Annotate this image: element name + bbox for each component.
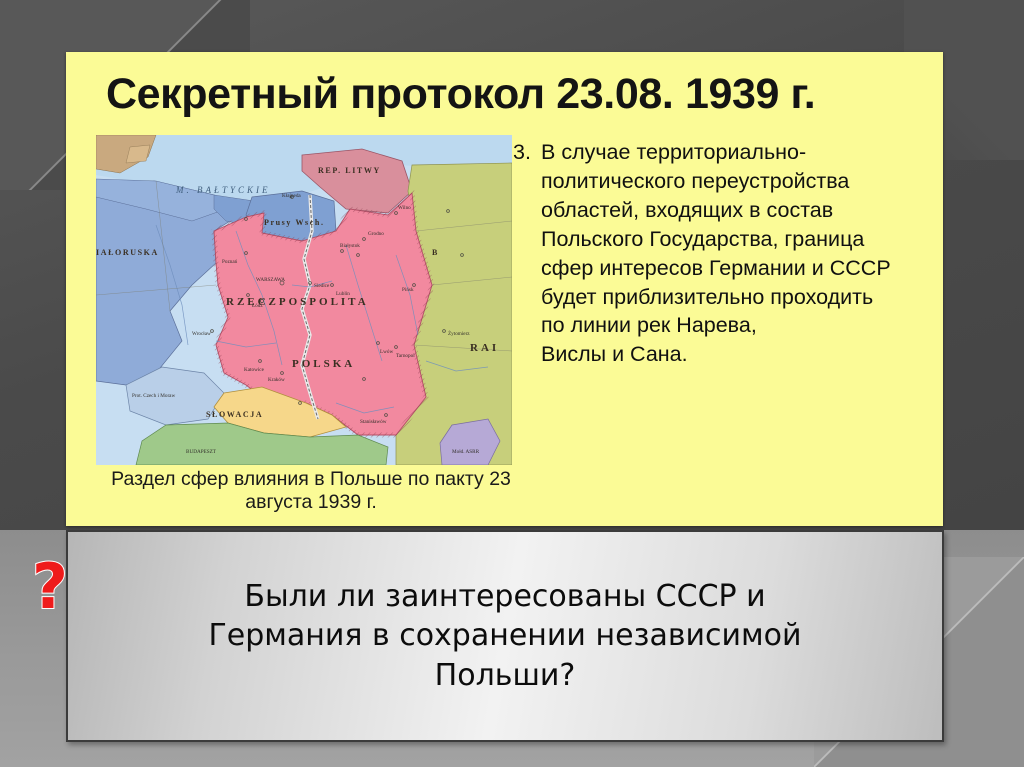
question-line: Германия в сохранении независимой	[145, 616, 865, 656]
map-label-warszawa: WARSZAWA	[256, 277, 285, 283]
map-label-protectorate: Prot. Czech i Moraw	[132, 393, 175, 399]
protocol-line: Вислы и Сана.	[541, 340, 933, 369]
map-label-slovakia: SŁOWACJA	[206, 410, 263, 419]
protocol-line: будет приблизительно проходить	[541, 283, 933, 312]
map-label-wilno: Wilno	[398, 205, 411, 211]
map-label-pinsk: Pińsk	[402, 287, 414, 293]
map-label-moldavia: Mołd. ASRR	[452, 449, 480, 455]
map-svg: M. BAŁTYCKIE Prusy Wsch. REP. LITWY RZEC…	[96, 135, 512, 465]
map-label-ukraine: RAI	[470, 342, 499, 354]
protocol-line: по линии рек Нарева,	[541, 311, 933, 340]
map-label-klaipeda: Kłajpeda	[282, 193, 301, 199]
protocol-line: областей, входящих в состав	[541, 196, 933, 225]
protocol-clause: 3. В случае территориально- политическог…	[513, 138, 933, 369]
map-label-wroclaw: Wrocław	[192, 331, 211, 337]
map-label-siedlce: Siedlce	[314, 283, 330, 289]
map-label-lublin: Lublin	[336, 291, 350, 297]
map-label-katowice: Katowice	[244, 367, 265, 373]
protocol-line: сфер интересов Германии и СССР	[541, 254, 933, 283]
protocol-body: В случае территориально- политического п…	[541, 138, 933, 369]
question-line: Польши?	[145, 656, 865, 696]
question-banner: Были ли заинтересованы СССР и Германия в…	[66, 530, 944, 742]
protocol-line: В случае территориально-	[541, 138, 933, 167]
protocol-line: Польского Государства, граница	[541, 225, 933, 254]
slide: Секретный протокол 23.08. 1939 г.	[0, 0, 1024, 767]
map-label-lithuania: REP. LITWY	[318, 166, 381, 175]
question-text: Были ли заинтересованы СССР и Германия в…	[145, 577, 865, 696]
map-label-rzeczpospolita: RZECZPOSPOLITA	[226, 296, 369, 308]
map-label-bialystok: Białystok	[340, 243, 360, 249]
map-label-polska: POLSKA	[292, 358, 355, 370]
map-label-stanislawow: Stanisławów	[360, 419, 387, 425]
map-label-krakow: Kraków	[268, 377, 285, 383]
map-label-lwow: Lwów	[380, 349, 394, 355]
question-line: Были ли заинтересованы СССР и	[145, 577, 865, 617]
map-label-zytomierz: Żytomierz	[448, 330, 470, 337]
map-label-budapest: BUDAPESZT	[186, 449, 217, 455]
map-label-lodz: Łódź	[252, 303, 263, 309]
map-label-tarnopol: Tarnopol	[396, 353, 415, 359]
page-title: Секретный протокол 23.08. 1939 г.	[106, 70, 815, 119]
map-caption: Раздел сфер влияния в Польше по пакту 23…	[96, 468, 526, 514]
map-label-east-prussia: Prusy Wsch.	[264, 218, 325, 227]
protocol-line: политического переустройства	[541, 167, 933, 196]
map-label-grodno: Grodno	[368, 231, 384, 237]
content-card: Секретный протокол 23.08. 1939 г.	[66, 52, 943, 526]
map-image: M. BAŁTYCKIE Prusy Wsch. REP. LITWY RZEC…	[96, 135, 512, 465]
map-label-baltic: M. BAŁTYCKIE	[175, 185, 271, 195]
protocol-number: 3.	[513, 138, 539, 167]
question-mark-icon: ?	[32, 556, 68, 618]
map-caption-line1: Раздел сфер влияния в Польше	[111, 468, 402, 490]
map-label-poznan: Poznań	[222, 259, 238, 265]
